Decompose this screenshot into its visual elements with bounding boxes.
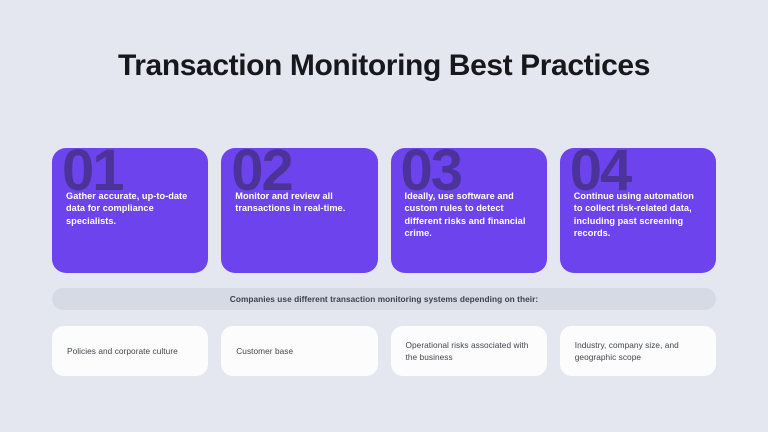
factor-card-operational-risks: Operational risks associated with the bu… [391, 326, 547, 376]
systems-banner-text: Companies use different transaction moni… [230, 294, 538, 304]
factor-text-operational-risks: Operational risks associated with the bu… [406, 339, 535, 363]
step-card-02: 02 Monitor and review all transactions i… [221, 148, 377, 273]
step-card-03: 03 Ideally, use software and custom rule… [391, 148, 547, 273]
factor-text-policies: Policies and corporate culture [67, 345, 196, 357]
factor-text-customer-base: Customer base [236, 345, 365, 357]
factor-card-customer-base: Customer base [221, 326, 377, 376]
step-text-04: Continue using automation to collect ris… [574, 190, 704, 240]
step-card-04: 04 Continue using automation to collect … [560, 148, 716, 273]
step-card-01: 01 Gather accurate, up-to-date data for … [52, 148, 208, 273]
step-text-01: Gather accurate, up-to-date data for com… [66, 190, 196, 227]
infographic-canvas: Transaction Monitoring Best Practices 01… [0, 0, 768, 432]
factor-card-policies: Policies and corporate culture [52, 326, 208, 376]
page-title: Transaction Monitoring Best Practices [104, 48, 664, 83]
factors-row: Policies and corporate culture Customer … [52, 326, 716, 376]
factor-text-industry-scope: Industry, company size, and geographic s… [575, 339, 704, 363]
step-text-03: Ideally, use software and custom rules t… [405, 190, 535, 240]
factor-card-industry-scope: Industry, company size, and geographic s… [560, 326, 716, 376]
systems-banner: Companies use different transaction moni… [52, 288, 716, 310]
best-practices-steps-row: 01 Gather accurate, up-to-date data for … [52, 148, 716, 273]
step-text-02: Monitor and review all transactions in r… [235, 190, 365, 215]
